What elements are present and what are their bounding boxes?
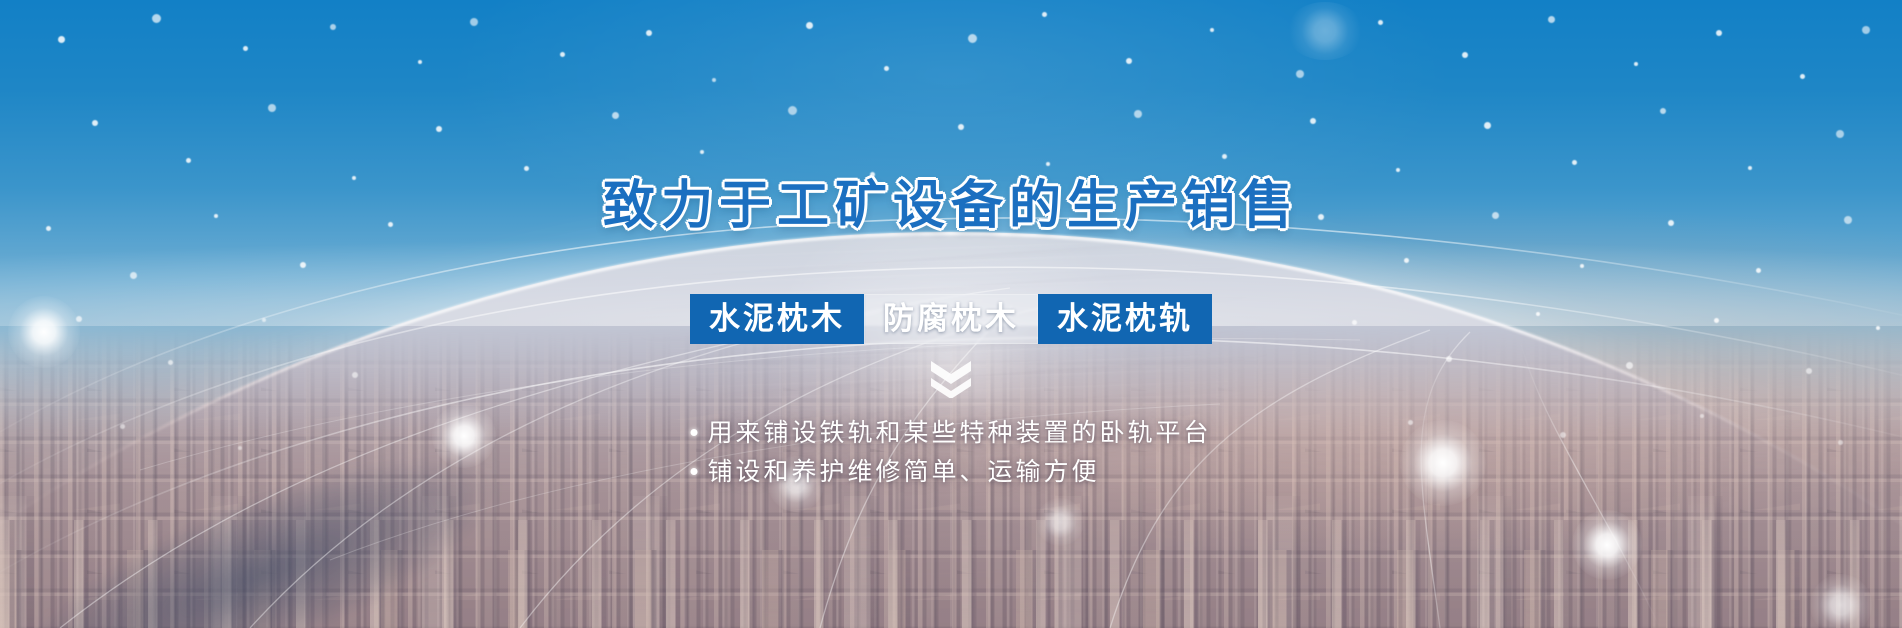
product-badge-cement-sleeper[interactable]: 水泥枕木 xyxy=(690,294,864,344)
product-badge-cement-rail[interactable]: 水泥枕轨 xyxy=(1038,294,1212,344)
list-item: 用来铺设铁轨和某些特种装置的卧轨平台 xyxy=(690,416,1211,450)
product-badge-anticorrosive-sleeper[interactable]: 防腐枕木 xyxy=(864,294,1038,344)
page-title: 致力于工矿设备的生产销售 xyxy=(0,180,1902,232)
bullet-dot-icon xyxy=(690,468,697,475)
list-item: 铺设和养护维修简单、运输方便 xyxy=(690,455,1211,489)
bullet-text: 铺设和养护维修简单、运输方便 xyxy=(707,455,1099,489)
feature-bullet-list: 用来铺设铁轨和某些特种装置的卧轨平台 铺设和养护维修简单、运输方便 xyxy=(690,416,1211,489)
chevron-double-down-icon[interactable] xyxy=(928,358,974,398)
banner-content: 致力于工矿设备的生产销售 水泥枕木 防腐枕木 水泥枕轨 用来铺设铁轨和某些特种装… xyxy=(0,0,1902,628)
hero-banner: 致力于工矿设备的生产销售 水泥枕木 防腐枕木 水泥枕轨 用来铺设铁轨和某些特种装… xyxy=(0,0,1902,628)
bullet-text: 用来铺设铁轨和某些特种装置的卧轨平台 xyxy=(707,416,1211,450)
bullet-dot-icon xyxy=(690,429,697,436)
product-badge-group: 水泥枕木 防腐枕木 水泥枕轨 xyxy=(690,294,1212,344)
